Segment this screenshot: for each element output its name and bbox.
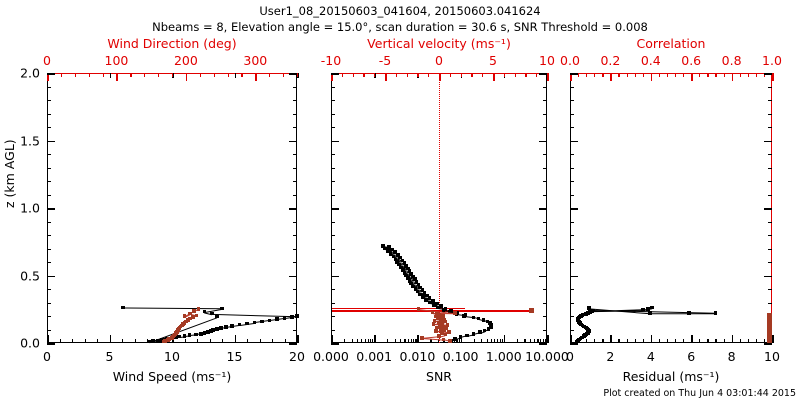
- x-tick-top-minor: [493, 73, 494, 77]
- x-tick-minor: [135, 339, 136, 343]
- x-tick-top-minor: [75, 73, 76, 77]
- data-point: [650, 306, 654, 310]
- x-tick-minor: [365, 339, 366, 343]
- data-point: [194, 333, 198, 337]
- y-tick-minor: [570, 127, 574, 128]
- y-tick-minor-right: [768, 181, 772, 182]
- x-tick-top-minor: [594, 73, 595, 77]
- y-tick-minor-right: [543, 222, 547, 223]
- data-point: [478, 330, 482, 334]
- y-tick-minor: [331, 181, 335, 182]
- x-tick-top-minor: [618, 73, 619, 77]
- data-point: [483, 329, 487, 333]
- y-tick-minor: [570, 303, 574, 304]
- x-tick-top-minor: [756, 73, 757, 77]
- y-tick-minor-right: [543, 343, 547, 344]
- y-tick-minor-right: [543, 127, 547, 128]
- data-point: [151, 339, 155, 343]
- data-point: [641, 308, 645, 312]
- y-tick-minor-right: [293, 276, 297, 277]
- x-tick-major: [417, 335, 419, 343]
- x-tick-minor: [497, 339, 498, 343]
- data-point: [472, 316, 476, 320]
- x-tick-label: 0.000: [313, 349, 349, 364]
- y-tick-minor-right: [768, 154, 772, 155]
- y-tick-label: 1.0: [8, 201, 40, 216]
- x-tick-minor: [699, 339, 700, 343]
- x-axis-title: SNR: [426, 369, 452, 384]
- snr-threshold-endpoint: [529, 308, 534, 313]
- x-tick-minor: [222, 339, 223, 343]
- data-point: [591, 309, 595, 313]
- y-tick-minor: [570, 316, 574, 317]
- x-tick-minor: [297, 339, 298, 343]
- y-tick-minor-right: [768, 303, 772, 304]
- y-tick-minor: [331, 127, 335, 128]
- x-tick-label: 5: [106, 349, 114, 364]
- y-tick-minor-right: [293, 154, 297, 155]
- data-point: [477, 317, 481, 321]
- figure-title-line1: User1_08_20150603_041604, 20150603.04162…: [0, 4, 800, 18]
- x-tick-major: [331, 335, 333, 343]
- y-tick-minor: [331, 222, 335, 223]
- x-tick-label: 10.000: [525, 349, 569, 364]
- y-tick-minor-right: [543, 276, 547, 277]
- y-tick-minor: [331, 195, 335, 196]
- y-tick-minor-right: [768, 141, 772, 142]
- data-point: [448, 339, 452, 343]
- data-point: [183, 314, 187, 318]
- x-tick-top-minor: [643, 73, 644, 77]
- x-tick-top-minor: [578, 73, 579, 77]
- x-tick-minor: [667, 339, 668, 343]
- x-tick-minor: [502, 339, 503, 343]
- x-axis-title-top: Correlation: [637, 36, 706, 51]
- y-tick-minor-right: [768, 343, 772, 344]
- x-tick-top-minor: [515, 73, 516, 77]
- x-tick-minor: [368, 339, 369, 343]
- x-tick-label: 0.100: [443, 349, 479, 364]
- x-tick-top-label: 0.4: [641, 53, 661, 68]
- x-tick-top-minor: [103, 73, 104, 77]
- y-tick-label: 1.5: [8, 133, 40, 148]
- x-tick-minor: [481, 339, 482, 343]
- x-tick-top-minor: [172, 73, 173, 77]
- x-tick-top-label: 100: [105, 53, 129, 68]
- x-tick-minor: [404, 339, 405, 343]
- y-tick-minor-right: [293, 181, 297, 182]
- x-tick-top-minor: [772, 73, 773, 77]
- x-axis-title-top: Vertical velocity (ms⁻¹): [367, 36, 511, 51]
- y-tick-minor-right: [768, 249, 772, 250]
- x-tick-minor: [610, 339, 611, 343]
- x-tick-minor: [707, 339, 708, 343]
- x-tick-top-label: -10: [321, 53, 341, 68]
- y-tick-minor-right: [543, 316, 547, 317]
- data-point: [290, 315, 294, 319]
- y-tick-minor-right: [293, 87, 297, 88]
- x-tick-label: 15: [227, 349, 243, 364]
- y-tick-minor: [47, 87, 51, 88]
- y-tick-minor: [570, 168, 574, 169]
- y-tick-minor-right: [543, 168, 547, 169]
- x-tick-minor: [524, 339, 525, 343]
- panel-residual-frame: [570, 73, 772, 343]
- x-tick-top-minor: [61, 73, 62, 77]
- y-tick-minor-right: [768, 289, 772, 290]
- y-tick-minor: [47, 127, 51, 128]
- y-tick-minor: [47, 195, 51, 196]
- y-tick-minor: [570, 154, 574, 155]
- x-tick-label: 0.010: [399, 349, 435, 364]
- y-tick-minor-right: [293, 208, 297, 209]
- x-tick-top-minor: [471, 73, 472, 77]
- data-point: [436, 306, 440, 310]
- x-tick-top-minor: [428, 73, 429, 77]
- x-tick-minor: [387, 339, 388, 343]
- y-tick-minor: [47, 168, 51, 169]
- y-tick-minor-right: [293, 262, 297, 263]
- x-tick-minor: [635, 339, 636, 343]
- data-point: [210, 312, 214, 316]
- y-tick-minor-right: [543, 154, 547, 155]
- x-tick-top-label: 0: [435, 53, 443, 68]
- data-point: [648, 311, 652, 315]
- y-tick-minor-right: [768, 100, 772, 101]
- y-tick-minor-right: [293, 195, 297, 196]
- y-tick-minor: [331, 249, 335, 250]
- y-tick-minor: [47, 249, 51, 250]
- x-tick-top-label: 10: [539, 53, 555, 68]
- y-tick-minor-right: [293, 73, 297, 74]
- x-tick-minor: [683, 339, 684, 343]
- x-tick-top-minor: [691, 73, 692, 77]
- x-tick-top-minor: [385, 73, 386, 77]
- x-tick-minor: [732, 339, 733, 343]
- x-tick-top-minor: [363, 73, 364, 77]
- data-point: [437, 334, 441, 338]
- zero-velocity-reference-line: [439, 73, 440, 343]
- data-point: [687, 311, 691, 315]
- x-tick-label: 0: [43, 349, 51, 364]
- y-tick-label: 2.0: [8, 66, 40, 81]
- data-point: [587, 306, 591, 310]
- y-tick-minor: [570, 114, 574, 115]
- data-point: [714, 311, 718, 315]
- x-tick-top-label: 0.0: [560, 53, 580, 68]
- x-tick-top-label: 1.0: [762, 53, 782, 68]
- x-tick-top-label: 0: [43, 53, 51, 68]
- data-point: [417, 307, 421, 311]
- y-tick-minor: [570, 276, 574, 277]
- x-tick-minor: [724, 339, 725, 343]
- x-tick-label: 2: [606, 349, 614, 364]
- y-tick-minor: [570, 87, 574, 88]
- x-tick-major-top: [235, 73, 237, 78]
- y-tick-minor-right: [293, 127, 297, 128]
- x-tick-top-minor: [283, 73, 284, 77]
- x-tick-minor: [643, 339, 644, 343]
- y-tick-minor: [331, 316, 335, 317]
- x-tick-top-minor: [130, 73, 131, 77]
- y-tick-minor: [570, 100, 574, 101]
- x-tick-top-minor: [635, 73, 636, 77]
- y-tick-minor: [47, 303, 51, 304]
- data-point: [462, 314, 466, 318]
- x-tick-minor: [408, 339, 409, 343]
- x-tick-top-minor: [683, 73, 684, 77]
- panel-wind: [47, 73, 297, 343]
- y-tick-minor: [570, 222, 574, 223]
- x-tick-minor: [272, 339, 273, 343]
- data-line-segment: [689, 313, 715, 314]
- x-tick-top-minor: [482, 73, 483, 77]
- y-tick-minor: [47, 114, 51, 115]
- x-tick-top-minor: [407, 73, 408, 77]
- y-tick-minor-right: [543, 289, 547, 290]
- x-tick-minor: [487, 339, 488, 343]
- x-tick-top-label: 0.6: [681, 53, 701, 68]
- x-tick-minor: [627, 339, 628, 343]
- y-tick-minor: [331, 289, 335, 290]
- data-point: [453, 337, 457, 341]
- data-point: [459, 335, 463, 339]
- x-tick-minor: [395, 339, 396, 343]
- correlation-saturated-column: [767, 313, 772, 343]
- footer-timestamp: Plot created on Thu Jun 4 03:01:44 2015: [603, 388, 796, 399]
- x-tick-top-minor: [536, 73, 537, 77]
- y-tick-minor-right: [543, 141, 547, 142]
- y-tick-label: 0.0: [8, 336, 40, 351]
- y-tick-minor-right: [768, 222, 772, 223]
- y-tick-minor: [47, 235, 51, 236]
- y-tick-minor-right: [768, 235, 772, 236]
- y-tick-minor-right: [543, 195, 547, 196]
- x-tick-minor: [285, 339, 286, 343]
- x-axis-title: Residual (ms⁻¹): [623, 369, 720, 384]
- y-tick-minor: [47, 289, 51, 290]
- x-tick-major: [374, 335, 376, 343]
- x-tick-top-minor: [342, 73, 343, 77]
- x-tick-top-minor: [186, 73, 187, 77]
- y-tick-minor-right: [768, 208, 772, 209]
- x-tick-minor: [372, 339, 373, 343]
- x-tick-minor: [602, 339, 603, 343]
- data-point: [220, 307, 224, 311]
- data-point: [188, 312, 192, 316]
- y-tick-minor: [570, 181, 574, 182]
- y-tick-minor-right: [293, 100, 297, 101]
- y-tick-minor-right: [768, 73, 772, 74]
- x-tick-minor: [370, 339, 371, 343]
- x-tick-top-minor: [667, 73, 668, 77]
- y-tick-minor: [47, 100, 51, 101]
- y-tick-minor: [331, 73, 335, 74]
- x-tick-label: 4: [647, 349, 655, 364]
- y-tick-minor: [570, 289, 574, 290]
- x-tick-top-minor: [586, 73, 587, 77]
- x-tick-minor: [474, 339, 475, 343]
- x-tick-top-minor: [297, 73, 298, 77]
- x-tick-minor: [415, 339, 416, 343]
- x-tick-top-minor: [675, 73, 676, 77]
- data-point: [121, 306, 125, 310]
- y-tick-minor-right: [543, 262, 547, 263]
- data-point: [283, 316, 287, 320]
- data-point: [197, 307, 201, 311]
- y-tick-minor: [331, 330, 335, 331]
- x-tick-minor: [110, 339, 111, 343]
- y-tick-minor-right: [543, 208, 547, 209]
- y-tick-minor: [570, 235, 574, 236]
- x-tick-minor: [60, 339, 61, 343]
- x-tick-top-minor: [627, 73, 628, 77]
- data-point: [253, 321, 257, 325]
- x-tick-minor: [122, 339, 123, 343]
- x-tick-top-minor: [715, 73, 716, 77]
- y-tick-minor-right: [543, 330, 547, 331]
- x-tick-top-minor: [699, 73, 700, 77]
- panel-wind-frame: [47, 73, 297, 343]
- y-tick-minor: [331, 235, 335, 236]
- x-tick-top-minor: [602, 73, 603, 77]
- y-axis-label: z (km AGL): [2, 139, 17, 208]
- x-tick-top-minor: [525, 73, 526, 77]
- data-point: [224, 325, 228, 329]
- x-tick-major: [504, 335, 506, 343]
- x-tick-major: [547, 335, 549, 343]
- y-tick-minor-right: [293, 303, 297, 304]
- x-tick-top-label: 0.2: [600, 53, 620, 68]
- x-tick-minor: [651, 339, 652, 343]
- x-tick-minor: [594, 339, 595, 343]
- y-tick-minor-right: [543, 235, 547, 236]
- x-tick-minor: [715, 339, 716, 343]
- data-point: [275, 317, 279, 321]
- x-tick-label: 6: [687, 349, 695, 364]
- x-tick-minor: [97, 339, 98, 343]
- y-tick-minor-right: [768, 127, 772, 128]
- y-tick-minor-right: [293, 289, 297, 290]
- x-tick-top-minor: [228, 73, 229, 77]
- x-tick-top-minor: [396, 73, 397, 77]
- x-tick-top-label: 300: [243, 53, 267, 68]
- x-tick-top-minor: [450, 73, 451, 77]
- x-tick-label: 0: [566, 349, 574, 364]
- y-tick-minor: [331, 154, 335, 155]
- x-tick-label: 10: [164, 349, 180, 364]
- y-tick-minor-right: [293, 330, 297, 331]
- x-tick-minor: [659, 339, 660, 343]
- x-tick-minor: [500, 339, 501, 343]
- data-line-segment: [650, 313, 689, 314]
- x-tick-label: 1.000: [486, 349, 522, 364]
- y-tick-minor: [331, 141, 335, 142]
- y-tick-minor-right: [293, 114, 297, 115]
- data-point: [192, 309, 196, 313]
- y-tick-minor-right: [543, 87, 547, 88]
- y-tick-minor: [570, 141, 574, 142]
- data-point: [195, 314, 199, 318]
- x-tick-minor: [618, 339, 619, 343]
- x-tick-top-minor: [200, 73, 201, 77]
- x-tick-top-minor: [374, 73, 375, 77]
- y-tick-minor: [570, 249, 574, 250]
- x-tick-minor: [494, 339, 495, 343]
- data-point: [453, 311, 457, 315]
- x-tick-top-minor: [269, 73, 270, 77]
- y-tick-minor: [331, 100, 335, 101]
- y-tick-minor-right: [293, 235, 297, 236]
- x-tick-top-minor: [547, 73, 548, 77]
- data-point: [215, 315, 219, 319]
- x-tick-minor: [185, 339, 186, 343]
- x-tick-top-minor: [116, 73, 117, 77]
- x-tick-minor: [344, 339, 345, 343]
- y-tick-minor-right: [543, 100, 547, 101]
- x-tick-minor: [740, 339, 741, 343]
- y-tick-minor-right: [293, 249, 297, 250]
- x-tick-top-minor: [241, 73, 242, 77]
- y-tick-minor: [47, 154, 51, 155]
- y-tick-minor: [47, 73, 51, 74]
- data-point: [447, 330, 451, 334]
- x-tick-label: 20: [289, 349, 305, 364]
- y-tick-minor: [47, 181, 51, 182]
- x-tick-top-minor: [748, 73, 749, 77]
- x-tick-top-minor: [732, 73, 733, 77]
- y-tick-minor: [570, 73, 574, 74]
- x-tick-top-minor: [651, 73, 652, 77]
- y-tick-minor: [570, 330, 574, 331]
- data-point: [487, 327, 491, 331]
- y-tick-minor: [331, 168, 335, 169]
- data-point: [465, 334, 469, 338]
- x-tick-top-minor: [214, 73, 215, 77]
- x-tick-top-minor: [724, 73, 725, 77]
- y-tick-minor: [47, 316, 51, 317]
- plot-figure: User1_08_20150603_041604, 20150603.04162…: [0, 0, 800, 400]
- figure-title-line2: Nbeams = 8, Elevation angle = 15.0°, sca…: [0, 20, 800, 34]
- y-tick-minor: [331, 343, 335, 344]
- data-point: [268, 319, 272, 323]
- x-tick-minor: [675, 339, 676, 343]
- data-point: [442, 338, 446, 342]
- data-point: [434, 329, 438, 333]
- x-tick-top-minor: [504, 73, 505, 77]
- x-tick-top-minor: [353, 73, 354, 77]
- x-tick-minor: [260, 339, 261, 343]
- y-tick-minor-right: [293, 222, 297, 223]
- y-tick-minor: [570, 343, 574, 344]
- y-tick-minor-right: [543, 114, 547, 115]
- y-tick-minor-right: [768, 262, 772, 263]
- y-tick-minor: [331, 303, 335, 304]
- x-tick-top-minor: [461, 73, 462, 77]
- x-tick-minor: [586, 339, 587, 343]
- data-point: [219, 326, 223, 330]
- x-tick-label: 8: [728, 349, 736, 364]
- y-tick-minor: [47, 343, 51, 344]
- y-tick-minor-right: [543, 249, 547, 250]
- x-tick-minor: [748, 339, 749, 343]
- data-point: [183, 334, 187, 338]
- data-point: [245, 322, 249, 326]
- y-tick-minor: [331, 208, 335, 209]
- y-tick-minor-right: [768, 276, 772, 277]
- data-point: [260, 320, 264, 324]
- x-tick-top-minor: [158, 73, 159, 77]
